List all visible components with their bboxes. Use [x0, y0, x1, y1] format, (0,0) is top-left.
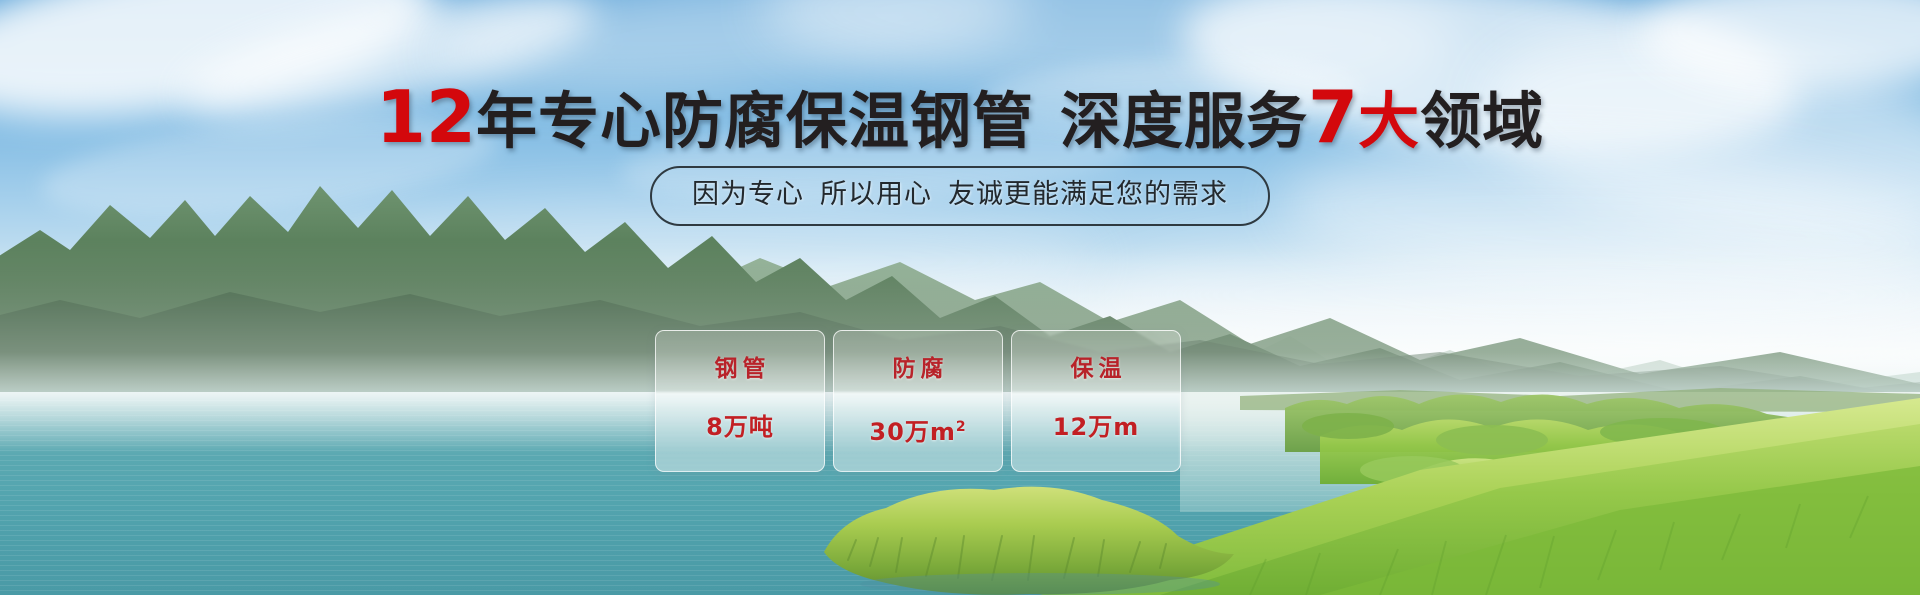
stat-card-unit-exponent: 2	[956, 419, 967, 435]
subtitle-pill: 因为专心所以用心友诚更能满足您的需求	[650, 166, 1270, 226]
stat-card-anticorrosion: 防腐 30万m2	[833, 330, 1003, 472]
headline-years-number: 12	[376, 75, 476, 159]
stat-card-group: 钢管 8万吨 防腐 30万m2 保温 12万m	[655, 330, 1181, 472]
stat-card-insulation: 保温 12万m	[1011, 330, 1181, 472]
headline-segment-1: 年专心防腐保温钢管	[476, 86, 1034, 157]
stat-card-value: 8万吨	[706, 413, 774, 441]
subtitle-part-2: 所以用心	[820, 179, 932, 210]
headline-fields-number: 7	[1308, 75, 1358, 159]
stat-card-value: 12万m	[1053, 413, 1139, 441]
stat-card-title: 保温	[1066, 355, 1127, 383]
headline-segment-2: 深度服务	[1060, 86, 1308, 157]
stat-card-title: 钢管	[710, 355, 771, 383]
subtitle-part-3: 友诚更能满足您的需求	[948, 179, 1228, 210]
headline: 12年专心防腐保温钢管深度服务7大领域	[0, 84, 1920, 155]
promo-banner: 12年专心防腐保温钢管深度服务7大领域 因为专心所以用心友诚更能满足您的需求 钢…	[0, 0, 1920, 595]
stat-card-steel-pipe: 钢管 8万吨	[655, 330, 825, 472]
subtitle-part-1: 因为专心	[692, 179, 804, 210]
headline-segment-3: 大	[1358, 86, 1420, 157]
banner-content: 12年专心防腐保温钢管深度服务7大领域 因为专心所以用心友诚更能满足您的需求 钢…	[0, 0, 1920, 595]
headline-segment-4: 领域	[1420, 86, 1544, 157]
stat-card-value: 30万m2	[869, 413, 966, 446]
stat-card-title: 防腐	[888, 355, 949, 383]
